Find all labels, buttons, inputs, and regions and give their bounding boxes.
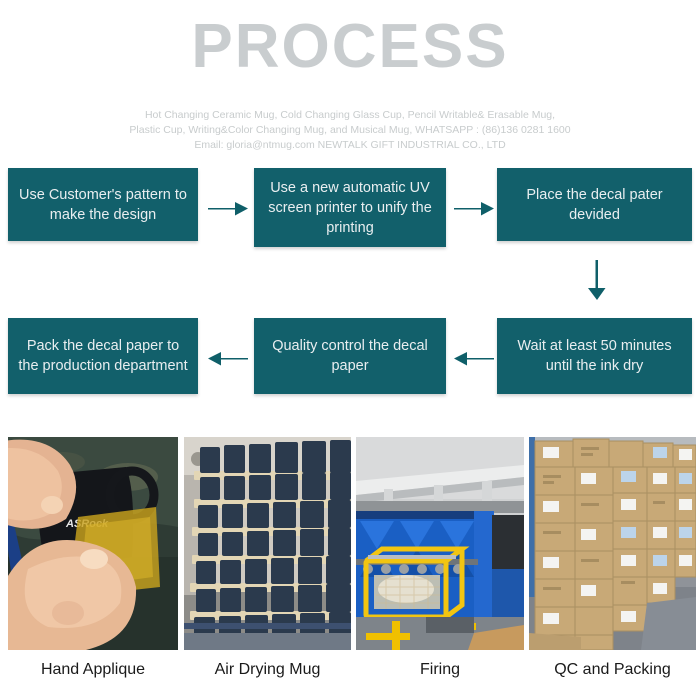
process-step-6-label: Pack the decal paper to the production d… — [16, 336, 190, 376]
process-step-3-label: Place the decal pater devided — [505, 185, 684, 225]
arrow-right-1-icon — [206, 193, 250, 223]
photo-hand-applique: ASRock — [8, 437, 178, 650]
infographic-page: PROCESS Hot Changing Ceramic Mug, Cold C… — [0, 0, 700, 700]
photo-caption-4: QC and Packing — [529, 656, 696, 684]
arrow-left-1-icon — [452, 343, 496, 373]
arrow-left-2-icon — [206, 343, 250, 373]
process-step-2: Use a new automatic UV screen printer to… — [254, 168, 446, 247]
process-step-5: Quality control the decal paper — [254, 318, 446, 394]
photo-caption-3: Firing — [356, 656, 524, 684]
process-step-2-label: Use a new automatic UV screen printer to… — [262, 178, 438, 238]
process-step-6: Pack the decal paper to the production d… — [8, 318, 198, 394]
contact-line-2: Plastic Cup, Writing&Color Changing Mug,… — [0, 123, 700, 138]
process-step-4-label: Wait at least 50 minutes until the ink d… — [505, 336, 684, 376]
photo-caption-2: Air Drying Mug — [184, 656, 351, 684]
photo-caption-1: Hand Applique — [8, 656, 178, 684]
photo-firing — [356, 437, 524, 650]
arrow-right-2-icon — [452, 193, 496, 223]
process-step-1: Use Customer's pattern to make the desig… — [8, 168, 198, 241]
process-step-1-label: Use Customer's pattern to make the desig… — [16, 185, 190, 225]
contact-line-1: Hot Changing Ceramic Mug, Cold Changing … — [0, 108, 700, 123]
process-step-4: Wait at least 50 minutes until the ink d… — [497, 318, 692, 394]
process-step-3: Place the decal pater devided — [497, 168, 692, 241]
photo-qc-and-packing — [529, 437, 696, 650]
contact-info-block: Hot Changing Ceramic Mug, Cold Changing … — [0, 108, 700, 153]
process-step-5-label: Quality control the decal paper — [262, 336, 438, 376]
photo-air-drying-mug — [184, 437, 351, 650]
page-title: PROCESS — [0, 12, 700, 82]
arrow-down-icon — [582, 258, 612, 302]
contact-line-3: Email: gloria@ntmug.com NEWTALK GIFT IND… — [0, 138, 700, 153]
